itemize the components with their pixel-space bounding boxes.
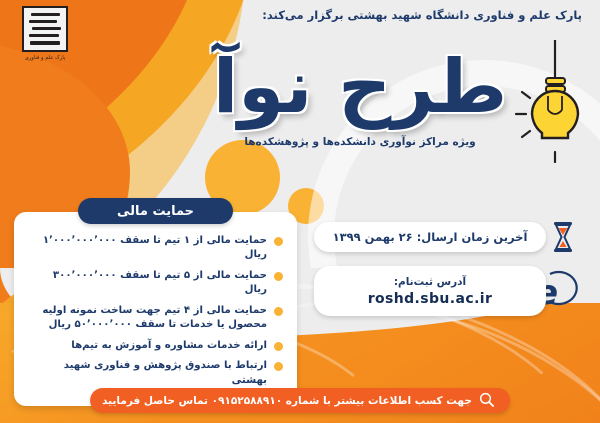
logo-mark-icon <box>22 6 68 52</box>
logo-caption: پارک علم و فناوری <box>14 55 76 61</box>
browser-e-icon: e <box>542 262 588 318</box>
financial-support-list: حمایت مالی از ۱ تیم تا سقف ۱٬۰۰۰٬۰۰۰٬۰۰۰… <box>28 234 283 388</box>
financial-support-badge: حمایت مالی <box>78 198 233 224</box>
financial-support-card: حمایت مالی از ۱ تیم تا سقف ۱٬۰۰۰٬۰۰۰٬۰۰۰… <box>14 212 297 406</box>
registration-address-pill[interactable]: آدرس ثبت‌نام: roshd.sbu.ac.ir <box>314 266 546 316</box>
contact-footer: جهت کسب اطلاعات بیشتر با شماره ۰۹۱۵۲۵۸۸۹… <box>90 388 510 413</box>
university-logo: پارک علم و فناوری <box>14 6 76 61</box>
organizer-line: پارک علم و فناوری دانشگاه شهید بهشتی برگ… <box>262 8 582 22</box>
list-item: ارتباط با صندوق پژوهش و فناوری شهید بهشت… <box>28 359 283 388</box>
search-icon <box>479 392 494 410</box>
deadline-text: آخرین زمان ارسال: ۲۶ بهمن ۱۳۹۹ <box>333 230 528 244</box>
registration-url[interactable]: roshd.sbu.ac.ir <box>368 291 493 307</box>
title-block: طرح نوآ ویژه مراکز نوآوری دانشکده‌ها و پ… <box>210 52 510 148</box>
poster-canvas: پارک علم و فناوری پارک علم و فناوری دانش… <box>0 0 600 423</box>
deadline-pill: آخرین زمان ارسال: ۲۶ بهمن ۱۳۹۹ <box>314 222 546 252</box>
list-item: حمایت مالی از ۵ تیم تا سقف ۳۰۰٬۰۰۰٬۰۰۰ ر… <box>28 269 283 298</box>
contact-text: جهت کسب اطلاعات بیشتر با شماره ۰۹۱۵۲۵۸۸۹… <box>102 395 472 407</box>
list-item: حمایت مالی از ۴ تیم جهت ساخت نمونه اولیه… <box>28 304 283 333</box>
hourglass-icon <box>550 220 576 258</box>
list-item: ارائه خدمات مشاوره و آموزش به تیم‌ها <box>28 339 283 353</box>
address-label: آدرس ثبت‌نام: <box>394 276 466 288</box>
list-item: حمایت مالی از ۱ تیم تا سقف ۱٬۰۰۰٬۰۰۰٬۰۰۰… <box>28 234 283 263</box>
page-subtitle: ویژه مراکز نوآوری دانشکده‌ها و پژوهشکده‌… <box>210 136 510 148</box>
page-title: طرح نوآ <box>210 52 510 122</box>
lightbulb-icon <box>510 40 584 174</box>
